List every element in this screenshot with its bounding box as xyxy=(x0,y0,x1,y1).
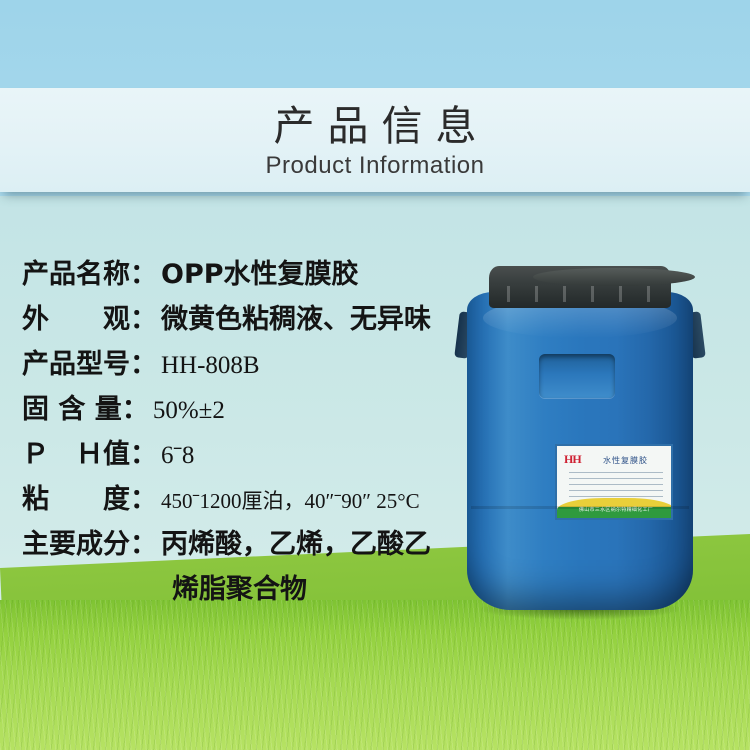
label-footer: 佛山市三水区纳尔特精细化工厂 xyxy=(557,506,673,513)
spec-row: Ｐ Ｈ值： 6ˉ8 xyxy=(22,432,492,477)
spec-row: 粘 度： 450ˉ1200厘泊，40″ˉ90″ 25°C xyxy=(22,477,492,522)
spec-row: 产品型号： HH-808B xyxy=(22,342,492,387)
label-logo: HH xyxy=(564,452,581,467)
barrel-cap xyxy=(489,266,671,308)
barrel-cap-top xyxy=(533,268,695,286)
spec-row: 固 含 量： 50%±2 xyxy=(22,387,492,432)
spec-row: 产品名称： OPP水性复膜胶 xyxy=(22,252,492,297)
spec-value: 丙烯酸，乙烯，乙酸乙 xyxy=(161,522,431,561)
spec-value: 450ˉ1200厘泊，40″ˉ90″ 25°C xyxy=(161,485,420,515)
barrel-product-label: HH 水性复膜胶 佛山市三水区纳尔特精细化工厂 xyxy=(555,444,673,520)
specification-list: 产品名称： OPP水性复膜胶 外 观： 微黄色粘稠液、无异味 产品型号： HH-… xyxy=(22,252,492,612)
spec-value: 微黄色粘稠液、无异味 xyxy=(161,297,431,336)
label-title: 水性复膜胶 xyxy=(603,455,648,466)
product-info-image: 产品信息 Product Information HH 水性复膜胶 xyxy=(0,0,750,750)
spec-key: 粘 度： xyxy=(22,477,157,516)
spec-row: 主要成分： 丙烯酸，乙烯，乙酸乙 xyxy=(22,522,492,567)
spec-key: 产品名称： xyxy=(22,252,157,291)
barrel-grip xyxy=(539,354,615,398)
page-title-english: Product Information xyxy=(0,152,750,180)
spec-key: Ｐ Ｈ值： xyxy=(22,432,157,471)
spec-key: 外 观： xyxy=(22,297,157,336)
label-wave-band xyxy=(557,498,673,518)
spec-key: 主要成分： xyxy=(22,522,157,561)
page-title-chinese: 产品信息 xyxy=(0,102,750,150)
spec-value: OPP水性复膜胶 xyxy=(161,252,359,291)
spec-key: 固 含 量： xyxy=(22,387,149,426)
header-banner: 产品信息 Product Information xyxy=(0,88,750,192)
spec-value: HH-808B xyxy=(161,352,260,380)
spec-row-continuation: 烯脂聚合物 xyxy=(22,567,492,612)
spec-row: 外 观： 微黄色粘稠液、无异味 xyxy=(22,297,492,342)
product-barrel: HH 水性复膜胶 佛山市三水区纳尔特精细化工厂 xyxy=(455,258,705,626)
spec-value-continuation: 烯脂聚合物 xyxy=(172,567,307,606)
spec-value: 6ˉ8 xyxy=(161,442,194,470)
spec-key: 产品型号： xyxy=(22,342,157,381)
barrel-body: HH 水性复膜胶 佛山市三水区纳尔特精细化工厂 xyxy=(467,292,693,610)
spec-value: 50%±2 xyxy=(153,397,225,425)
